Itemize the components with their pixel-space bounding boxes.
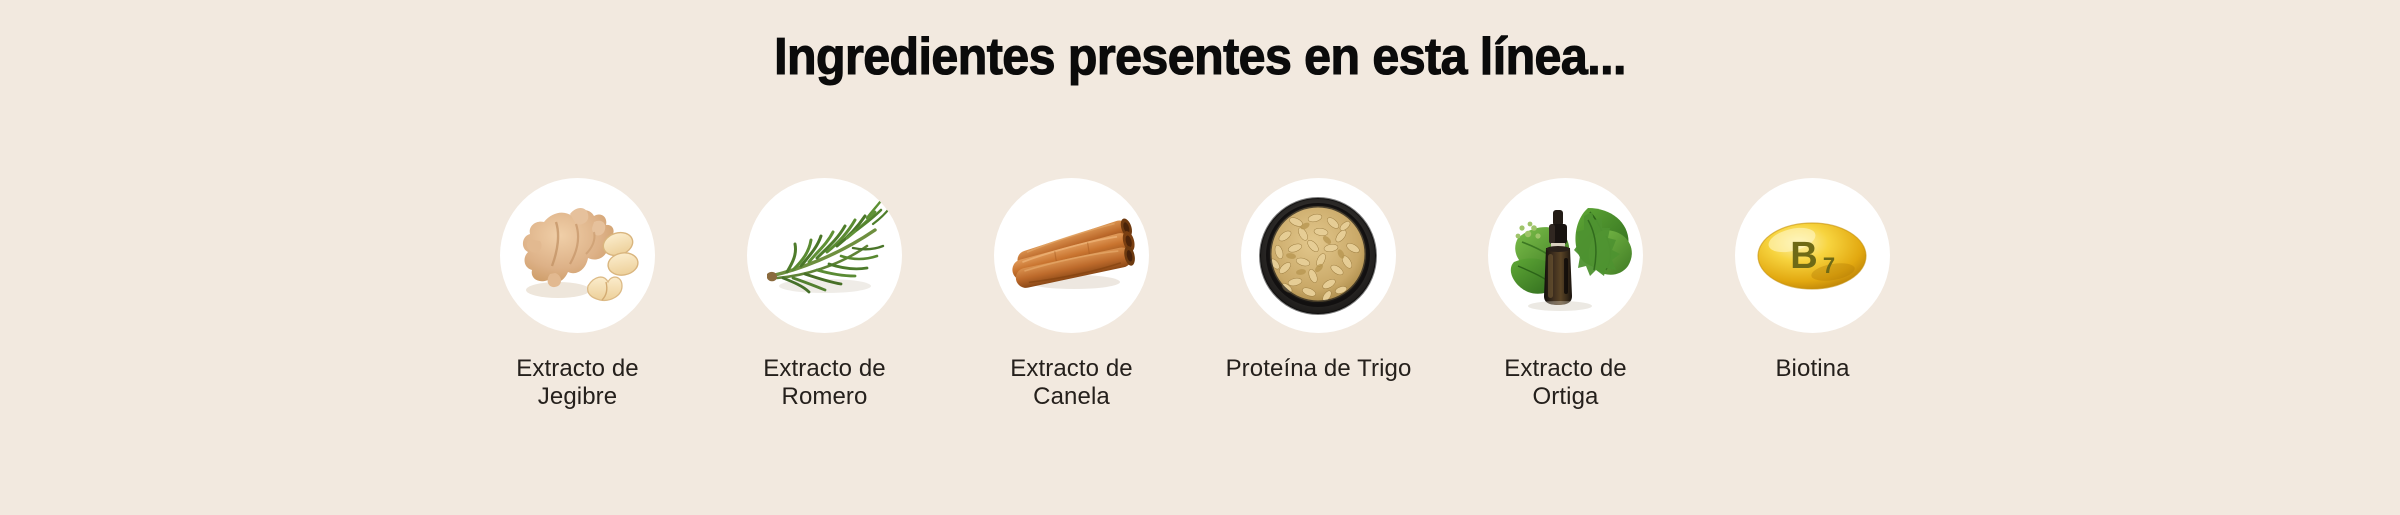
ingredient-item[interactable]: B 7 Biotina: [1735, 178, 1890, 383]
ingredient-image-circle: [500, 178, 655, 333]
ingredient-item[interactable]: Extracto de Jegibre: [500, 178, 655, 411]
ingredient-label: Extracto de Canela: [977, 355, 1167, 411]
ingredients-row: Extracto de Jegibre: [500, 178, 1900, 411]
biotin-softgel-capsule-icon: B 7: [1735, 178, 1890, 333]
rosemary-sprig-icon: [747, 178, 902, 333]
ingredient-image-circle: B 7: [1735, 178, 1890, 333]
ingredient-image-circle: [1241, 178, 1396, 333]
wheat-grain-bowl-icon: [1241, 178, 1396, 333]
ingredient-label: Proteína de Trigo: [1224, 355, 1414, 383]
ingredient-label: Biotina: [1718, 355, 1908, 383]
ingredient-label: Extracto de Jegibre: [483, 355, 673, 411]
ingredient-item[interactable]: Extracto de Romero: [747, 178, 902, 411]
cinnamon-sticks-icon: [994, 178, 1149, 333]
ingredient-item[interactable]: Extracto de Canela: [994, 178, 1149, 411]
ingredients-banner: Ingredientes presentes en esta línea...: [0, 0, 2400, 515]
ingredient-item[interactable]: Proteína de Trigo: [1241, 178, 1396, 383]
capsule-subscript: 7: [1823, 253, 1835, 278]
ingredient-label: Extracto de Romero: [730, 355, 920, 411]
ingredient-image-circle: [994, 178, 1149, 333]
ingredient-image-circle: [747, 178, 902, 333]
nettle-leaves-dropper-bottle-icon: [1488, 178, 1643, 333]
section-title: Ingredientes presentes en esta línea...: [84, 27, 2316, 87]
ingredient-item[interactable]: Extracto de Ortiga: [1488, 178, 1643, 411]
ingredient-image-circle: [1488, 178, 1643, 333]
capsule-letter: B: [1790, 235, 1817, 277]
ginger-root-icon: [500, 178, 655, 333]
ingredient-label: Extracto de Ortiga: [1471, 355, 1661, 411]
